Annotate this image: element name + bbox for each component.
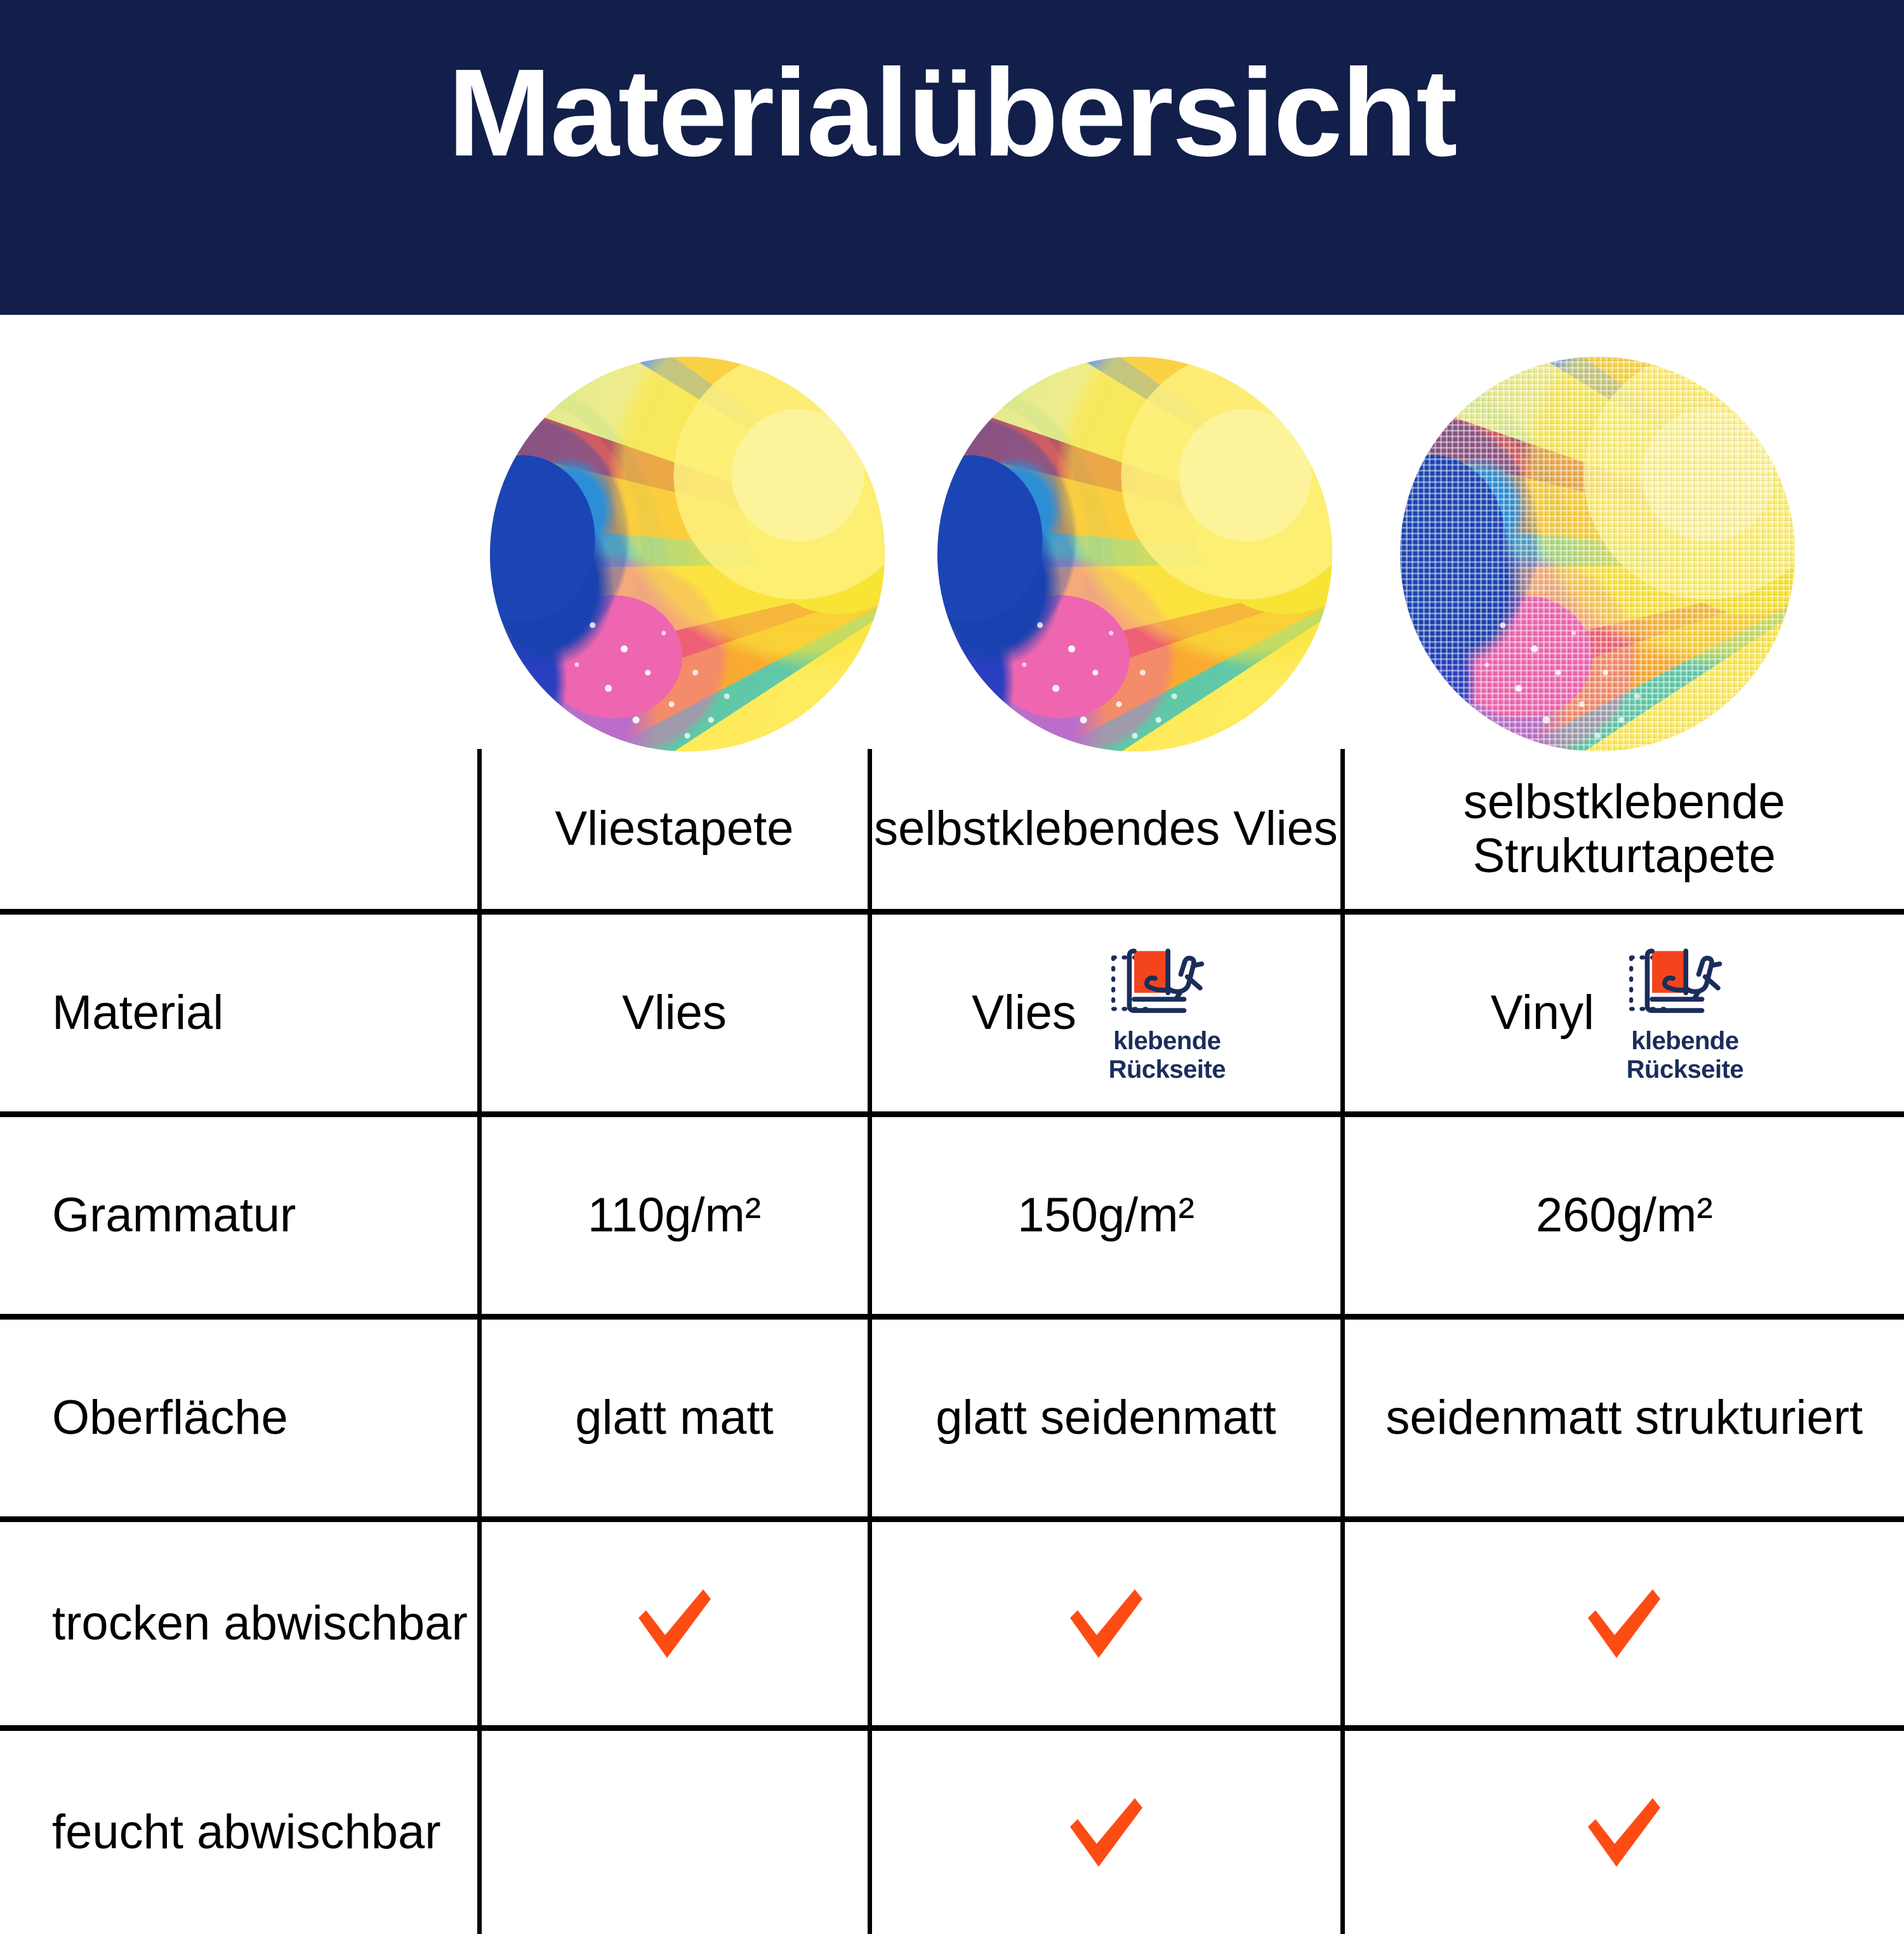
cell-grammatur-selbstklebendes-vlies: 150g/m² [869, 1115, 1342, 1317]
table-row: Grammatur 110g/m² 150g/m² 260g/m² [0, 1115, 1904, 1317]
row-label-feucht-abwischbar: feucht abwischbar [0, 1728, 479, 1934]
peel-adhesive-back-icon [1107, 942, 1227, 1024]
adhesive-badge-label: klebendeRückseite [1627, 1027, 1743, 1084]
cell-trocken-vliestapete [479, 1520, 869, 1728]
badge-line-1: klebende [1631, 1027, 1738, 1055]
table-row: trocken abwischbar [0, 1520, 1904, 1728]
row-label-material: Material [0, 912, 479, 1115]
cell-material-vliestapete: Vlies [479, 912, 869, 1115]
table-row: Material Vlies Vlies [0, 912, 1904, 1115]
adhesive-badge-label: klebendeRückseite [1109, 1027, 1226, 1084]
cell-oberflaeche-vliestapete: glatt matt [479, 1317, 869, 1520]
no-checkmark-placeholder [482, 1785, 868, 1880]
row-label-grammatur: Grammatur [0, 1115, 479, 1317]
cell-trocken-selbstklebende-strukturtapete [1342, 1520, 1904, 1728]
watercolor-artwork-textured-icon [1400, 357, 1795, 752]
column-header-selbstklebendes-vlies: selbstklebendes Vlies [869, 749, 1342, 912]
cell-value: Vlies [972, 986, 1076, 1040]
column-header-vliestapete: Vliestapete [479, 749, 869, 912]
table-header-row: Vliestapete selbstklebendes Vlies selbst… [0, 749, 1904, 912]
watercolor-artwork-icon [937, 357, 1332, 752]
badge-line-2: Rückseite [1109, 1056, 1226, 1083]
row-label-oberflaeche: Oberfläche [0, 1317, 479, 1520]
cell-material-selbstklebendes-vlies: Vlies [869, 912, 1342, 1115]
cell-oberflaeche-selbstklebende-strukturtapete: seidenmatt strukturiert [1342, 1317, 1904, 1520]
checkmark-icon [1059, 1785, 1154, 1880]
cell-feucht-vliestapete [479, 1728, 869, 1934]
product-image-vliestapete [490, 357, 885, 752]
cell-material-selbstklebende-strukturtapete: Vinyl [1342, 912, 1904, 1115]
page-header-band: Materialübersicht [0, 0, 1904, 315]
cell-trocken-selbstklebendes-vlies [869, 1520, 1342, 1728]
cell-oberflaeche-selbstklebendes-vlies: glatt seidenmatt [869, 1317, 1342, 1520]
cell-feucht-selbstklebendes-vlies [869, 1728, 1342, 1934]
column-header-selbstklebende-strukturtapete: selbstklebende Strukturtapete [1342, 749, 1904, 912]
table-row: feucht abwischbar [0, 1728, 1904, 1934]
cell-value: Vlies [622, 986, 727, 1040]
watercolor-artwork-icon [490, 357, 885, 752]
adhesive-back-badge: klebendeRückseite [1094, 942, 1240, 1084]
product-image-selbstklebendes-vlies [937, 357, 1332, 752]
table-row: Oberfläche glatt matt glatt seidenmatt s… [0, 1317, 1904, 1520]
checkmark-icon [1577, 1785, 1672, 1880]
row-label-trocken-abwischbar: trocken abwischbar [0, 1520, 479, 1728]
material-comparison-table: Vliestapete selbstklebendes Vlies selbst… [0, 749, 1904, 1934]
checkmark-icon [1577, 1576, 1672, 1671]
badge-line-2: Rückseite [1627, 1056, 1743, 1083]
cell-grammatur-selbstklebende-strukturtapete: 260g/m² [1342, 1115, 1904, 1317]
table-corner-cell [0, 749, 479, 912]
peel-adhesive-back-icon [1625, 942, 1745, 1024]
checkmark-icon [1059, 1576, 1154, 1671]
page-title: Materialübersicht [448, 51, 1457, 175]
cell-grammatur-vliestapete: 110g/m² [479, 1115, 869, 1317]
cell-value: Vinyl [1491, 986, 1594, 1040]
product-image-selbstklebende-strukturtapete [1400, 357, 1795, 752]
badge-line-1: klebende [1113, 1027, 1220, 1055]
checkmark-icon [627, 1576, 722, 1671]
adhesive-back-badge: klebendeRückseite [1612, 942, 1758, 1084]
cell-feucht-selbstklebende-strukturtapete [1342, 1728, 1904, 1934]
product-image-row [0, 355, 1904, 749]
